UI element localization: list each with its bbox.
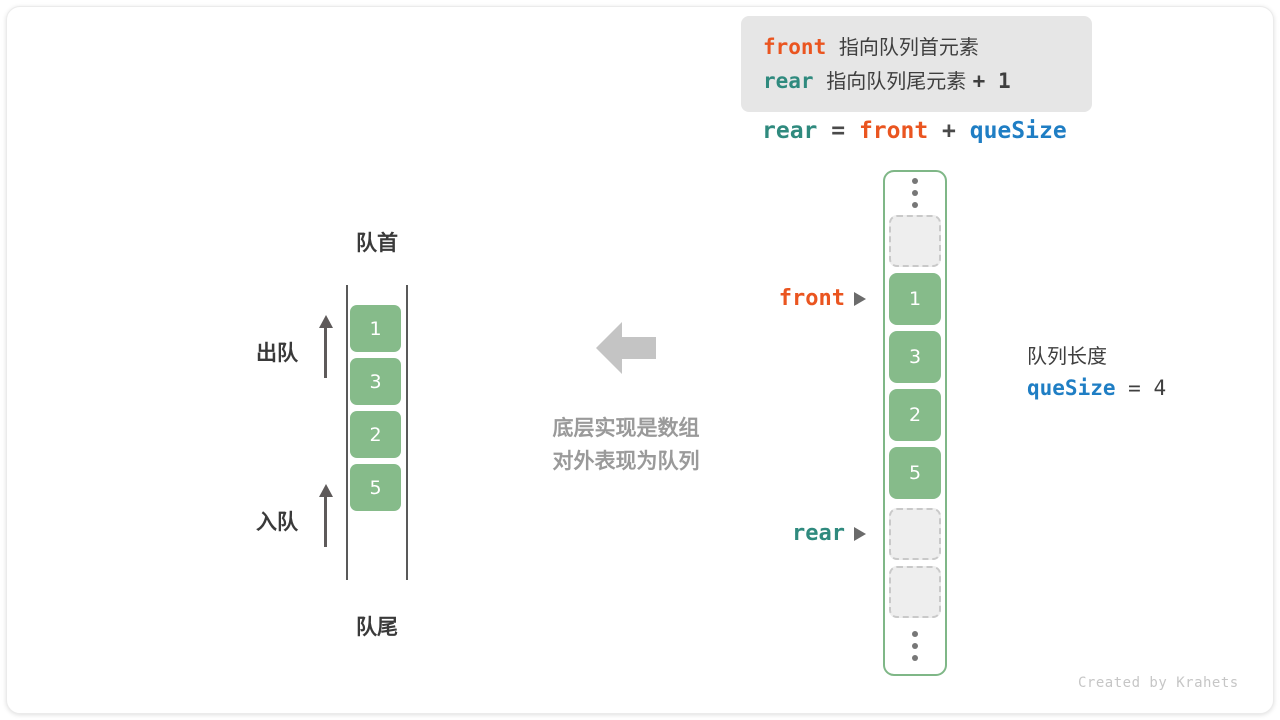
- formula-front: front: [859, 118, 928, 144]
- pointer-legend-box: front 指向队列首元素 rear 指向队列尾元素 + 1: [741, 16, 1092, 112]
- formula-equals: =: [817, 118, 859, 144]
- enqueue-arrow-icon: [318, 484, 334, 547]
- array-slot-empty: [889, 508, 941, 560]
- implementation-note-line2: 对外表现为队列: [518, 445, 734, 478]
- dequeue-arrow-icon: [318, 315, 334, 378]
- queue-cell: 1: [350, 305, 401, 352]
- dot: [912, 631, 918, 637]
- front-pointer-label: front: [700, 286, 845, 311]
- array-slot-filled: 5: [889, 447, 941, 499]
- array-slot-empty: [889, 566, 941, 618]
- array-slot-filled: 3: [889, 331, 941, 383]
- queue-head-label: 队首: [347, 227, 407, 257]
- dot: [912, 178, 918, 184]
- queue-size-title: 队列长度: [1027, 341, 1166, 371]
- queue-cell: 5: [350, 464, 401, 511]
- legend-rear-offset: + 1: [973, 69, 1011, 93]
- diagram-canvas: front 指向队列首元素 rear 指向队列尾元素 + 1 rear = fr…: [0, 0, 1280, 720]
- legend-rear-keyword: rear: [763, 69, 814, 93]
- dequeue-label: 出队: [256, 337, 298, 367]
- enqueue-label: 入队: [256, 506, 298, 536]
- formula-rear: rear: [762, 118, 817, 144]
- rear-formula: rear = front + queSize: [762, 118, 1067, 144]
- formula-plus: +: [928, 118, 970, 144]
- dot: [912, 202, 918, 208]
- queue-cell: 3: [350, 358, 401, 405]
- rear-pointer-label: rear: [700, 521, 845, 546]
- legend-front-keyword: front: [763, 35, 826, 59]
- implementation-note: 底层实现是数组 对外表现为队列: [518, 412, 734, 478]
- queue-tail-label: 队尾: [347, 611, 407, 641]
- arrow-shaft: [324, 324, 327, 378]
- legend-line-rear: rear 指向队列尾元素 + 1: [763, 64, 1092, 98]
- queue-rail-right: [406, 285, 408, 580]
- implementation-note-line1: 底层实现是数组: [518, 412, 734, 445]
- quesize-value: = 4: [1116, 376, 1167, 400]
- queue-rail-left: [346, 285, 348, 580]
- legend-rear-desc: 指向队列尾元素: [814, 69, 973, 93]
- array-slot-empty: [889, 215, 941, 267]
- formula-quesize: queSize: [970, 118, 1067, 144]
- dot: [912, 655, 918, 661]
- array-slot-filled: 1: [889, 273, 941, 325]
- credit-text: Created by Krahets: [1078, 675, 1239, 691]
- legend-front-desc: 指向队列首元素: [826, 35, 979, 59]
- quesize-variable: queSize: [1027, 376, 1116, 400]
- legend-line-front: front 指向队列首元素: [763, 30, 1092, 64]
- dot: [912, 190, 918, 196]
- vertical-ellipsis-icon-top: [908, 178, 922, 208]
- dot: [912, 643, 918, 649]
- arrow-shaft: [324, 493, 327, 547]
- array-slot-filled: 2: [889, 389, 941, 441]
- vertical-ellipsis-icon-bottom: [908, 631, 922, 661]
- left-arrow-icon: [596, 320, 656, 376]
- queue-size-value-row: queSize = 4: [1027, 371, 1166, 405]
- front-pointer-arrow-icon: [854, 292, 866, 306]
- queue-cell: 2: [350, 411, 401, 458]
- queue-size-note: 队列长度 queSize = 4: [1027, 341, 1166, 405]
- rear-pointer-arrow-icon: [854, 527, 866, 541]
